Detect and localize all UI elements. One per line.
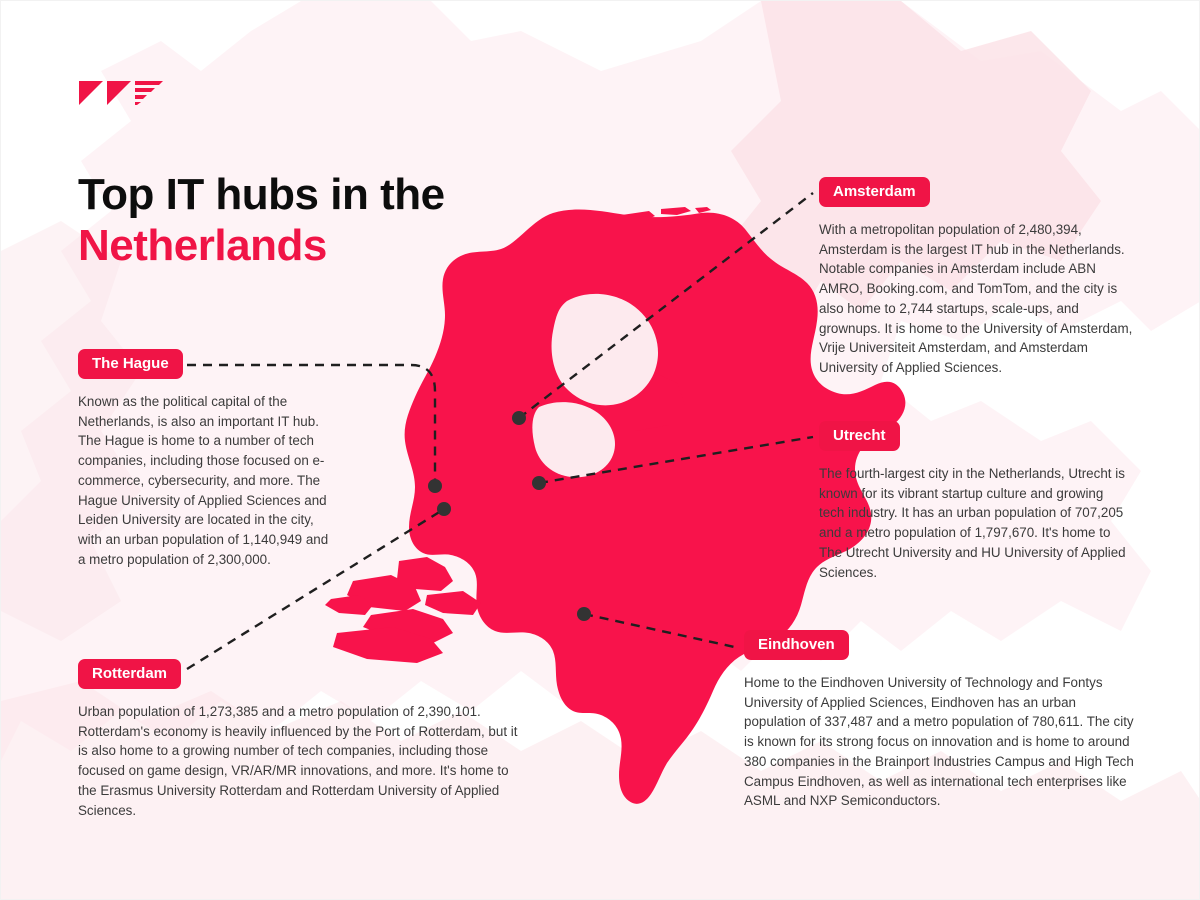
infographic-canvas: Top IT hubs in the Netherlands The Hague… <box>0 0 1200 900</box>
map-marker-rotterdam[interactable] <box>437 502 451 516</box>
map-marker-amsterdam[interactable] <box>512 411 526 425</box>
city-panel-eindhoven: Eindhoven Home to the Eindhoven Universi… <box>744 630 1137 811</box>
city-panel-rotterdam: Rotterdam Urban population of 1,273,385 … <box>78 659 530 820</box>
city-panel-the-hague: The Hague Known as the political capital… <box>78 349 330 569</box>
city-description-rotterdam: Urban population of 1,273,385 and a metr… <box>78 702 530 820</box>
city-panel-amsterdam: Amsterdam With a metropolitan population… <box>819 177 1141 378</box>
map-marker-the-hague[interactable] <box>428 479 442 493</box>
city-panel-utrecht: Utrecht The fourth-largest city in the N… <box>819 421 1131 582</box>
wf-logo <box>79 79 163 107</box>
page-title: Top IT hubs in the Netherlands <box>78 169 508 271</box>
city-description-amsterdam: With a metropolitan population of 2,480,… <box>819 220 1141 378</box>
connector-eindhoven <box>584 614 739 648</box>
connector-utrecht <box>539 437 813 483</box>
city-description-eindhoven: Home to the Eindhoven University of Tech… <box>744 673 1137 811</box>
city-badge-the-hague[interactable]: The Hague <box>78 349 183 379</box>
city-badge-utrecht[interactable]: Utrecht <box>819 421 900 451</box>
title-line-2: Netherlands <box>78 220 508 271</box>
connector-amsterdam <box>519 193 813 418</box>
map-marker-eindhoven[interactable] <box>577 607 591 621</box>
city-description-the-hague: Known as the political capital of the Ne… <box>78 392 330 569</box>
city-badge-amsterdam[interactable]: Amsterdam <box>819 177 930 207</box>
title-line-1: Top IT hubs in the <box>78 169 508 220</box>
city-description-utrecht: The fourth-largest city in the Netherlan… <box>819 464 1131 582</box>
map-marker-utrecht[interactable] <box>532 476 546 490</box>
city-badge-rotterdam[interactable]: Rotterdam <box>78 659 181 689</box>
city-badge-eindhoven[interactable]: Eindhoven <box>744 630 849 660</box>
